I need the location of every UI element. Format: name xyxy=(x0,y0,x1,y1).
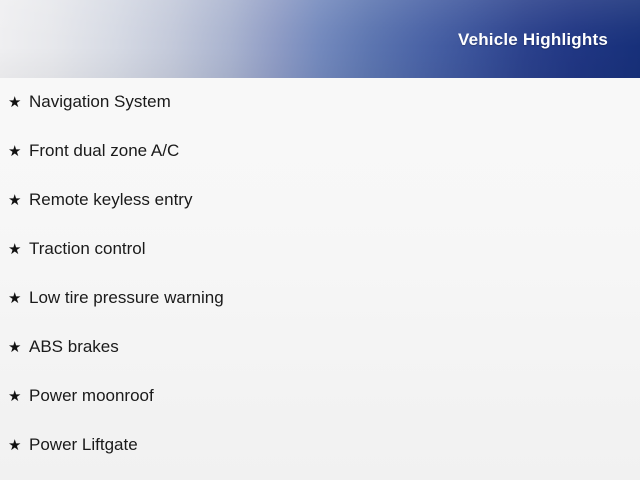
list-item-label: Front dual zone A/C xyxy=(29,141,179,161)
star-icon: ★ xyxy=(8,438,29,453)
list-item: ★ Front dual zone A/C xyxy=(0,127,640,176)
list-item-label: Traction control xyxy=(29,239,146,259)
star-icon: ★ xyxy=(8,95,29,110)
slide-header-band: Vehicle Highlights xyxy=(0,0,640,78)
list-item: ★ Remote keyless entry xyxy=(0,176,640,225)
list-item-label: Low tire pressure warning xyxy=(29,288,224,308)
list-item: ★ Power moonroof xyxy=(0,372,640,421)
star-icon: ★ xyxy=(8,242,29,257)
list-item-label: Navigation System xyxy=(29,92,171,112)
list-item: ★ ABS brakes xyxy=(0,323,640,372)
star-icon: ★ xyxy=(8,193,29,208)
list-item: ★ Navigation System xyxy=(0,78,640,127)
vehicle-highlights-list: ★ Navigation System ★ Front dual zone A/… xyxy=(0,78,640,470)
page-title: Vehicle Highlights xyxy=(458,30,608,50)
list-item-label: Power moonroof xyxy=(29,386,154,406)
list-item-label: Power Liftgate xyxy=(29,435,138,455)
star-icon: ★ xyxy=(8,144,29,159)
star-icon: ★ xyxy=(8,340,29,355)
list-item: ★ Traction control xyxy=(0,225,640,274)
list-item: ★ Low tire pressure warning xyxy=(0,274,640,323)
star-icon: ★ xyxy=(8,389,29,404)
star-icon: ★ xyxy=(8,291,29,306)
list-item-label: Remote keyless entry xyxy=(29,190,192,210)
list-item: ★ Power Liftgate xyxy=(0,421,640,470)
vehicle-highlights-slide: Vehicle Highlights ★ Navigation System ★… xyxy=(0,0,640,480)
list-item-label: ABS brakes xyxy=(29,337,119,357)
